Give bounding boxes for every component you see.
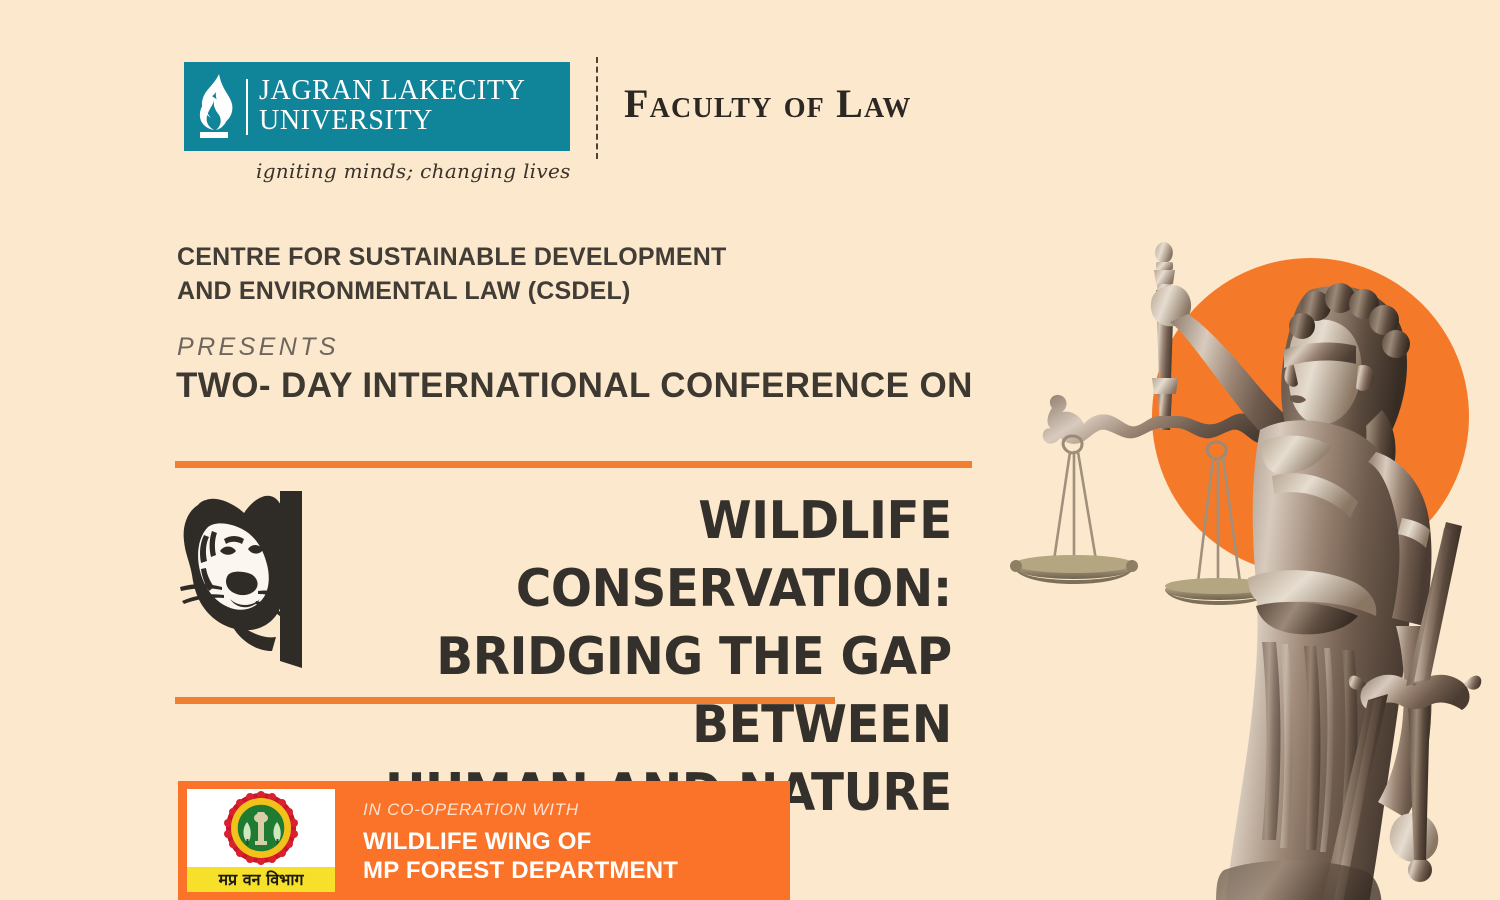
title-rule-top xyxy=(175,461,972,468)
mp-forest-seal-icon: मप्र वन विभाग xyxy=(187,789,335,892)
centre-name: CENTRE FOR SUSTAINABLE DEVELOPMENT AND E… xyxy=(177,240,977,308)
mp-forest-caption: मप्र वन विभाग xyxy=(187,867,335,892)
conference-title: WILDLIFE CONSERVATION: BRIDGING THE GAP … xyxy=(310,487,952,827)
cooperation-text-block: IN CO-OPERATION WITH WILDLIFE WING OF MP… xyxy=(335,781,678,900)
dashed-divider-icon xyxy=(596,57,598,159)
logo-rule xyxy=(246,79,248,135)
conference-poster: JAGRAN LAKECITY UNIVERSITY igniting mind… xyxy=(0,0,1500,900)
cooperation-partner: WILDLIFE WING OF MP FOREST DEPARTMENT xyxy=(363,827,678,885)
mp-seal-graphic xyxy=(187,789,335,867)
title-rule-bottom xyxy=(175,697,835,704)
header-logo-lockup: JAGRAN LAKECITY UNIVERSITY igniting mind… xyxy=(184,62,944,192)
presents-label: PRESENTS xyxy=(177,333,339,362)
lady-justice-statue-icon xyxy=(1010,230,1500,900)
cooperation-eyebrow: IN CO-OPERATION WITH xyxy=(363,800,678,820)
university-name: JAGRAN LAKECITY UNIVERSITY xyxy=(259,76,525,138)
flame-icon xyxy=(184,62,246,151)
tiger-head-icon xyxy=(168,483,316,668)
university-tagline: igniting minds; changing lives xyxy=(256,159,571,183)
faculty-name: Faculty of Law xyxy=(624,80,912,127)
university-logo: JAGRAN LAKECITY UNIVERSITY xyxy=(184,62,570,151)
cooperation-banner: मप्र वन विभाग IN CO-OPERATION WITH WILDL… xyxy=(178,781,790,900)
conference-kicker: TWO- DAY INTERNATIONAL CONFERENCE ON xyxy=(176,366,973,406)
